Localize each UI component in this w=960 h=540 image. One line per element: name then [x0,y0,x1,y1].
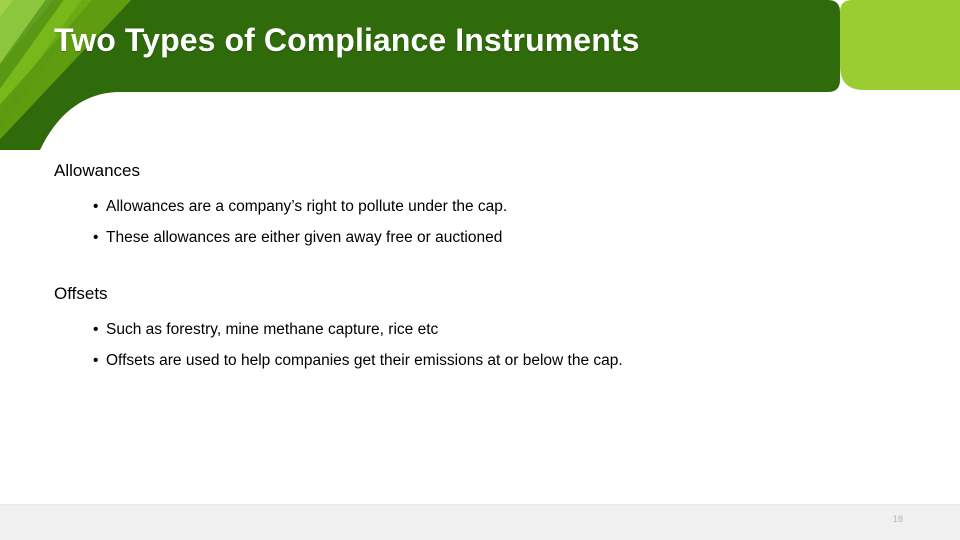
list-item-text: These allowances are either given away f… [106,229,502,246]
bullet-list: • Such as forestry, mine methane capture… [54,320,914,371]
section-offsets: Offsets • Such as forestry, mine methane… [54,283,914,372]
slide-body: Allowances • Allowances are a company’s … [54,160,914,371]
bullet-marker-icon: • [93,351,98,371]
section-heading: Allowances [54,160,914,181]
bullet-list: • Allowances are a company’s right to po… [54,197,914,248]
page-number: 18 [878,514,918,524]
section-heading: Offsets [54,283,914,304]
footer-band [0,504,960,540]
list-item: • Such as forestry, mine methane capture… [93,320,914,340]
list-item: • These allowances are either given away… [93,228,914,248]
header-accent-block [840,0,960,90]
list-item-text: Such as forestry, mine methane capture, … [106,321,438,338]
footer-divider [0,504,960,505]
bullet-marker-icon: • [93,228,98,248]
list-item-text: Offsets are used to help companies get t… [106,352,623,369]
bullet-marker-icon: • [93,197,98,217]
list-item: • Allowances are a company’s right to po… [93,197,914,217]
section-allowances: Allowances • Allowances are a company’s … [54,160,914,249]
bullet-marker-icon: • [93,320,98,340]
slide-title: Two Types of Compliance Instruments [54,22,814,59]
list-item-text: Allowances are a company’s right to poll… [106,198,507,215]
list-item: • Offsets are used to help companies get… [93,351,914,371]
presentation-slide: Two Types of Compliance Instruments Allo… [0,0,960,540]
